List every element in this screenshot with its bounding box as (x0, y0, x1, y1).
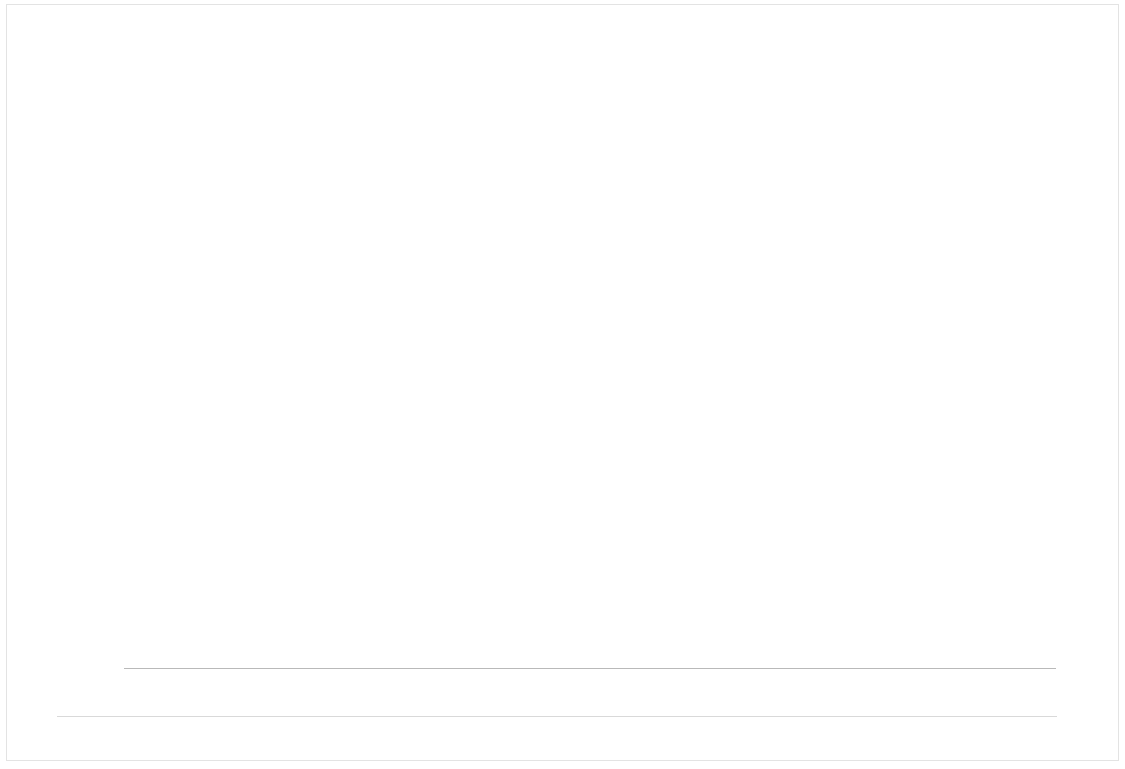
footer-divider (57, 716, 1057, 717)
y-axis-ticks (64, 119, 118, 668)
stacked-area-chart (124, 119, 1056, 668)
slide-root (0, 0, 1125, 769)
x-axis-line (124, 668, 1056, 669)
chart-container (0, 0, 1125, 769)
plot-area (124, 119, 1056, 668)
footer (57, 724, 1057, 748)
